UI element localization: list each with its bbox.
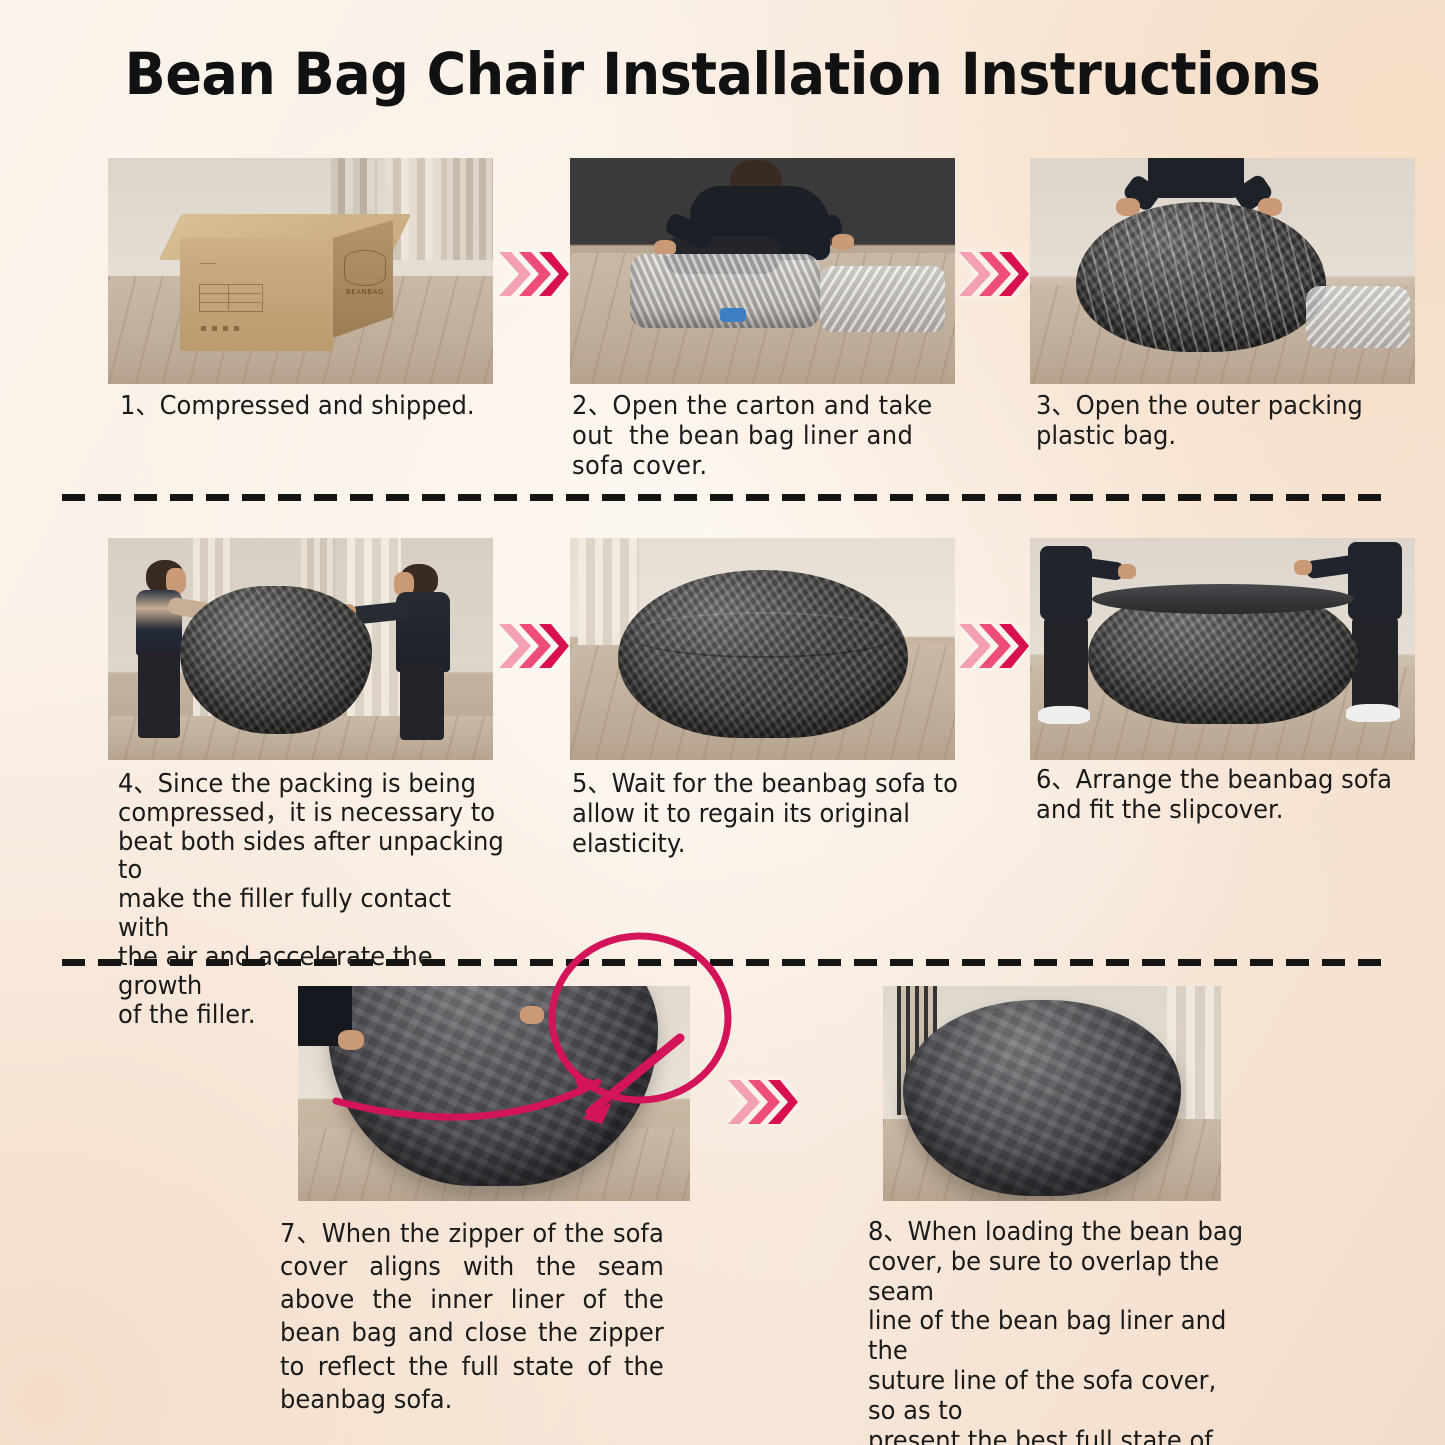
- step-2-image: [570, 158, 955, 384]
- slipcover-edge: [1092, 584, 1354, 614]
- arrow-step-4-to-5: [497, 618, 569, 674]
- step-3-image: [1030, 158, 1415, 384]
- step-7-image: [298, 986, 690, 1201]
- bean-bag-liner: [180, 586, 372, 734]
- step-5-image: [570, 538, 955, 760]
- section-divider-1: [62, 494, 1384, 501]
- arrow-step-1-to-2: [497, 246, 569, 302]
- step-3-caption: 3、Open the outer packing plastic bag.: [1036, 392, 1416, 452]
- step-6-image: [1030, 538, 1415, 760]
- step-6-caption: 6、Arrange the beanbag sofa and fit the s…: [1036, 766, 1416, 826]
- section-divider-2: [62, 959, 1384, 966]
- step-1-caption: 1、Compressed and shipped.: [120, 392, 500, 422]
- arrow-step-2-to-3: [957, 246, 1029, 302]
- step-8-caption: 8、When loading the bean bag cover, be su…: [868, 1218, 1248, 1445]
- carton-front: [180, 238, 333, 351]
- page-title: Bean Bag Chair Installation Instructions: [51, 44, 1395, 105]
- carton-brand-text: BEANBAG: [346, 288, 384, 296]
- spare-plastic-bag: [1306, 286, 1410, 348]
- liner-top-seam: [628, 612, 898, 658]
- step-4-image: [108, 538, 493, 760]
- finished-bean-bag-chair: [903, 1000, 1181, 1196]
- vacuum-bag-valve: [720, 308, 746, 322]
- carton-brand-logo: [344, 250, 386, 286]
- step-2-caption: 2、Open the carton and take out the bean …: [572, 392, 962, 481]
- step-5-caption: 5、Wait for the beanbag sofa to allow it …: [572, 770, 962, 859]
- vacuum-bag-right: [820, 266, 945, 332]
- step-8-image: [883, 986, 1221, 1201]
- instruction-poster: Bean Bag Chair Installation Instructions…: [0, 0, 1445, 1445]
- step-1-image: BEANBAG: [108, 158, 493, 384]
- arrow-step-7-to-8: [726, 1074, 798, 1130]
- step-7-caption: 7、When the zipper of the sofa cover alig…: [280, 1218, 664, 1417]
- arrow-step-5-to-6: [957, 618, 1029, 674]
